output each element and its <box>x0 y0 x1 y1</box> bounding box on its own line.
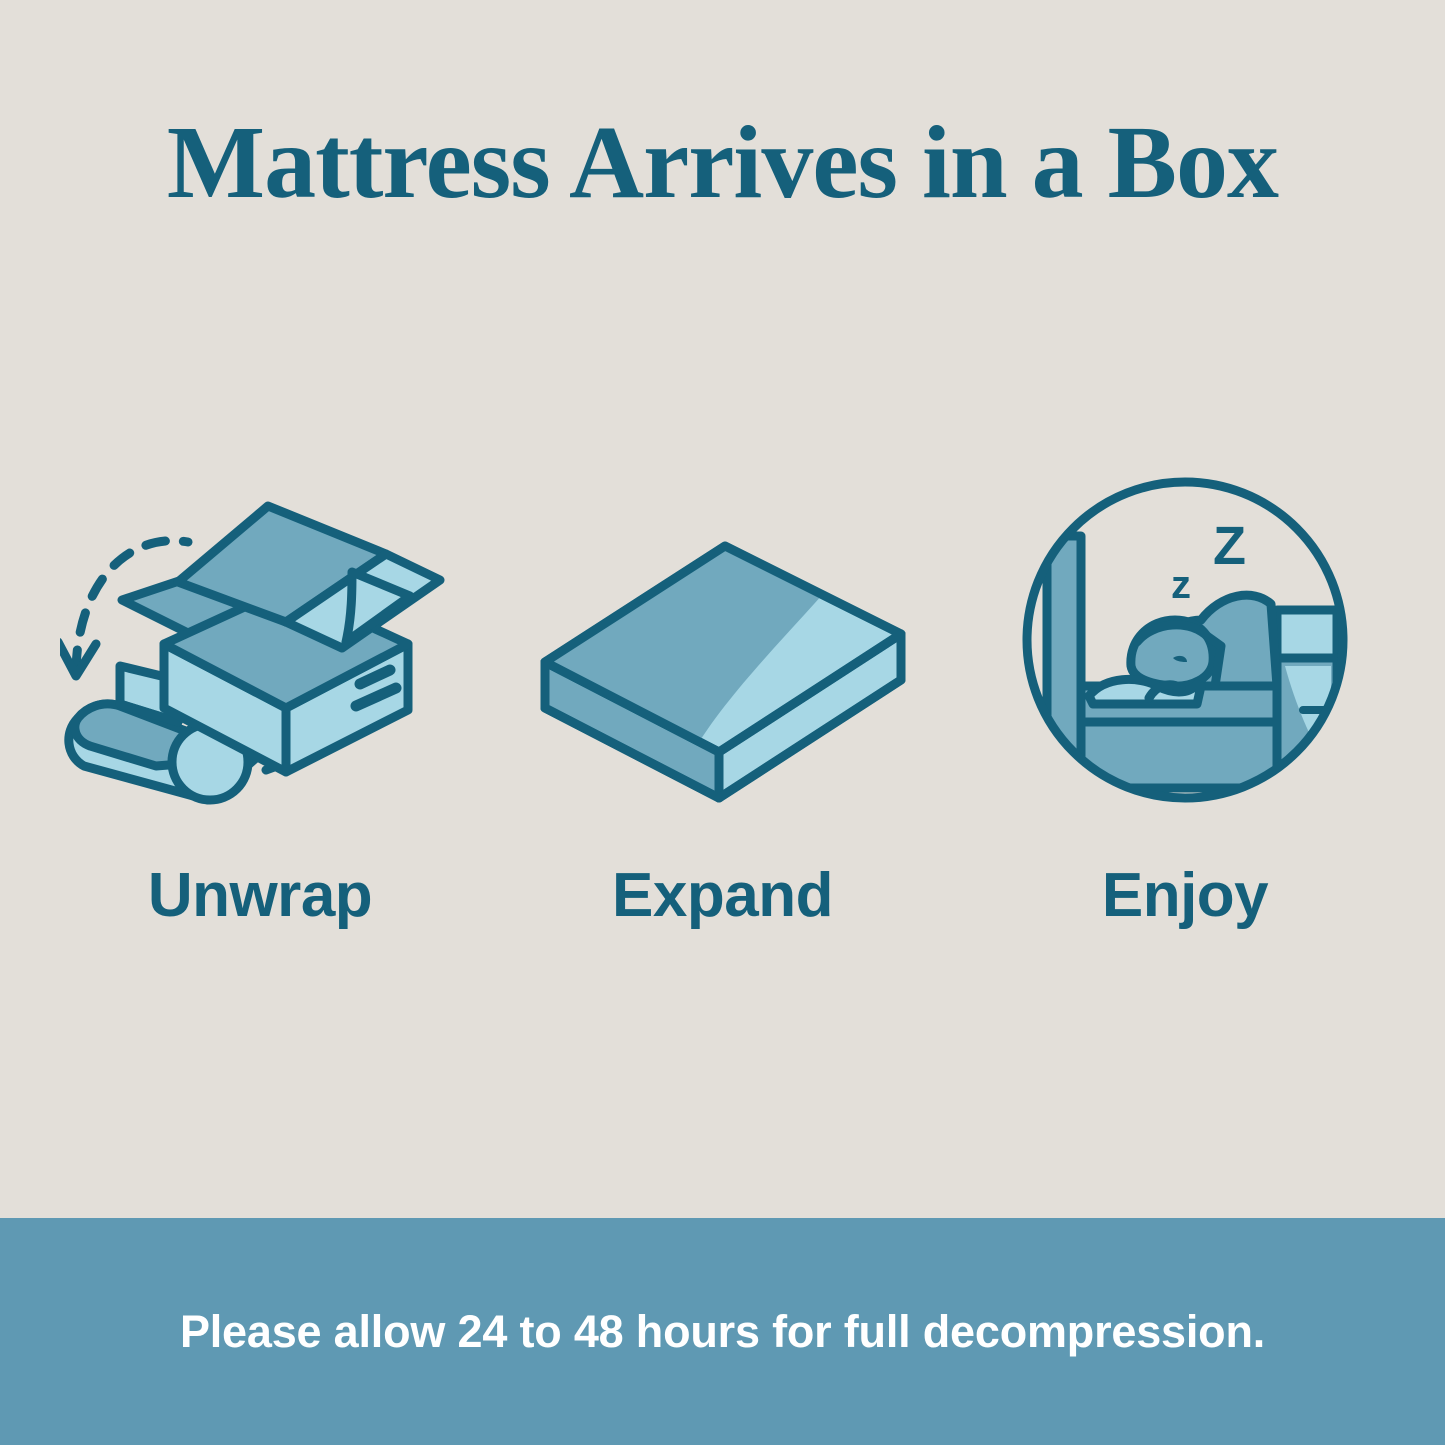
infographic-poster: Mattress Arrives in a Box <box>0 0 1445 1445</box>
step-expand: Expand <box>503 470 943 931</box>
step-unwrap: Unwrap <box>40 470 480 931</box>
flat-mattress-icon <box>523 470 923 810</box>
step-label-unwrap: Unwrap <box>148 860 372 931</box>
page-title: Mattress Arrives in a Box <box>0 108 1445 217</box>
steps-row: Unwrap <box>0 470 1445 931</box>
sleep-mark-z-large: Z <box>1213 516 1246 576</box>
sleep-mark-z-small: z <box>1171 563 1191 607</box>
box-with-rolled-mattress-icon <box>60 470 460 810</box>
step-enjoy: Z z Enjoy <box>965 470 1405 931</box>
footer-banner: Please allow 24 to 48 hours for full dec… <box>0 1218 1445 1445</box>
step-label-expand: Expand <box>612 860 833 931</box>
person-sleeping-in-bed-icon: Z z <box>985 470 1385 810</box>
decompression-note: Please allow 24 to 48 hours for full dec… <box>180 1306 1265 1358</box>
step-label-enjoy: Enjoy <box>1102 860 1268 931</box>
